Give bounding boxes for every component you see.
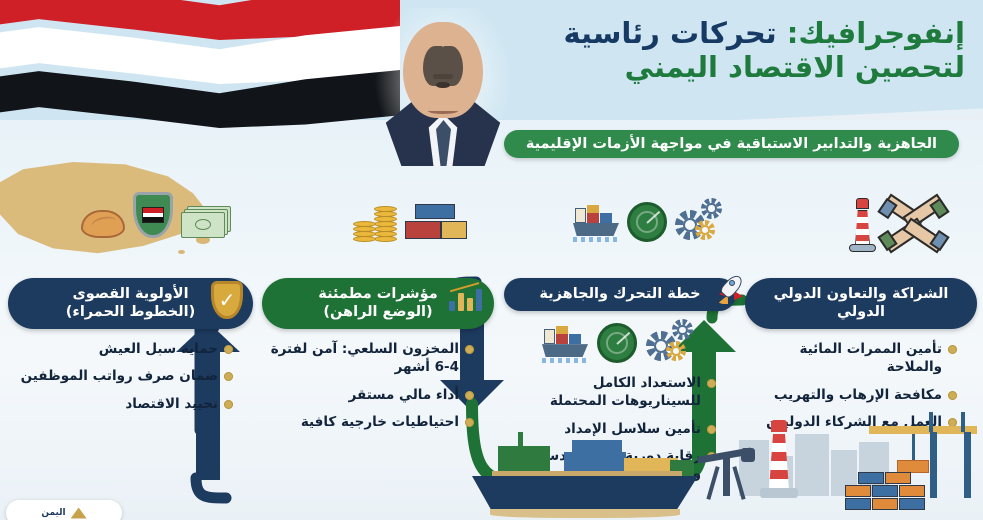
list-item: المخزون السلعي: آمن لفترة 4-6 أشهر [266,340,474,376]
subtitle-ribbon: الجاهزية والتدابير الاستباقية في مواجهة … [504,130,959,158]
headline-block: إنفوجرافيك: تحركات رئاسية لتحصين الاقتصا… [495,16,965,84]
portrait-eye-right [436,82,448,88]
panel2-title-pill[interactable]: خطة التحرك والجاهزية [504,278,736,311]
panel2-inline-icons [504,319,736,363]
panel1-title-line2: الدولي [759,303,963,321]
headline-label: إنفوجرافيك: [787,16,965,50]
gold-coins-icon [349,200,397,242]
yemen-flag-shield-icon [133,192,173,238]
portrait-hair-right [441,46,463,86]
infographic-canvas: إنفوجرافيك: تحركات رئاسية لتحصين الاقتصا… [0,0,983,520]
list-item: ضمان صرف رواتب الموظفين [12,367,233,385]
list-item: الاستعداد الكامل للسيناريوهات المحتملة [508,374,716,410]
panel2-icon-cluster [573,198,727,242]
radar-icon [597,323,637,363]
headline-line-1: إنفوجرافيك: تحركات رئاسية [495,16,965,50]
gears-icon [646,319,698,363]
source-logo[interactable]: اليمن [6,500,122,520]
port-scene [683,424,983,520]
list-item: حماية سبل العيش [12,340,233,358]
panel1-title-pill[interactable]: الشراكة والتعاون الدولي الدولي [745,278,977,329]
panel2-title-line1: خطة التحرك والجاهزية [518,285,722,303]
panel3-icon-cluster [349,200,469,242]
panel4-bullets: حماية سبل العيش ضمان صرف رواتب الموظفين … [8,340,253,413]
stacked-containers-icon [845,466,965,510]
container-ship-icon [542,325,588,363]
map-island-dot [178,250,185,254]
logo-text: اليمن [41,508,65,518]
headline-line-2: لتحصين الاقتصاد اليمني [495,50,965,84]
container-ship-icon [573,204,619,242]
list-item: تحييد الاقتصاد [12,395,233,413]
logo-mark-icon [71,508,87,519]
container-cargo-ship [472,442,702,520]
arrow-up-to-partnership-tail [196,478,226,498]
list-item: تأمين الممرات المائية والملاحة [749,340,957,376]
panel3-bullets: المخزون السلعي: آمن لفترة 4-6 أشهر أداء … [262,340,494,431]
portrait-brow-right [433,74,451,79]
skyline-building [795,434,829,496]
list-item: مكافحة الإرهاب والتهريب [749,386,957,404]
bread-icon [81,210,125,238]
yemen-flag [0,0,400,157]
list-item: أداء مالي مستقر [266,386,474,404]
panel4-icon-cluster [81,192,231,238]
bar-chart-icon [449,285,483,311]
headline-main: تحركات رئاسية [563,16,776,50]
list-item: احتياطيات خارجية كافية [266,413,474,431]
portrait-mouth [428,108,458,114]
portrait-head [403,22,483,118]
rocket-icon [717,274,747,304]
lighthouse-large-icon [760,420,798,498]
panel1-icon-cluster [847,196,945,252]
banknotes-icon [181,206,231,238]
gears-icon [675,198,727,242]
panel1-title-line1: الشراكة والتعاون الدولي [759,285,963,303]
lighthouse-icon [847,198,877,252]
president-portrait [372,8,514,166]
shipping-containers-icon [405,202,469,242]
oil-pump-jack-icon [697,446,757,500]
handshake-hands-icon [885,196,945,252]
panel4-title-line1: الأولوية القصوى [22,285,239,303]
radar-icon [627,202,667,242]
panel4-title-line2: (الخطوط الحمراء) [22,303,239,321]
